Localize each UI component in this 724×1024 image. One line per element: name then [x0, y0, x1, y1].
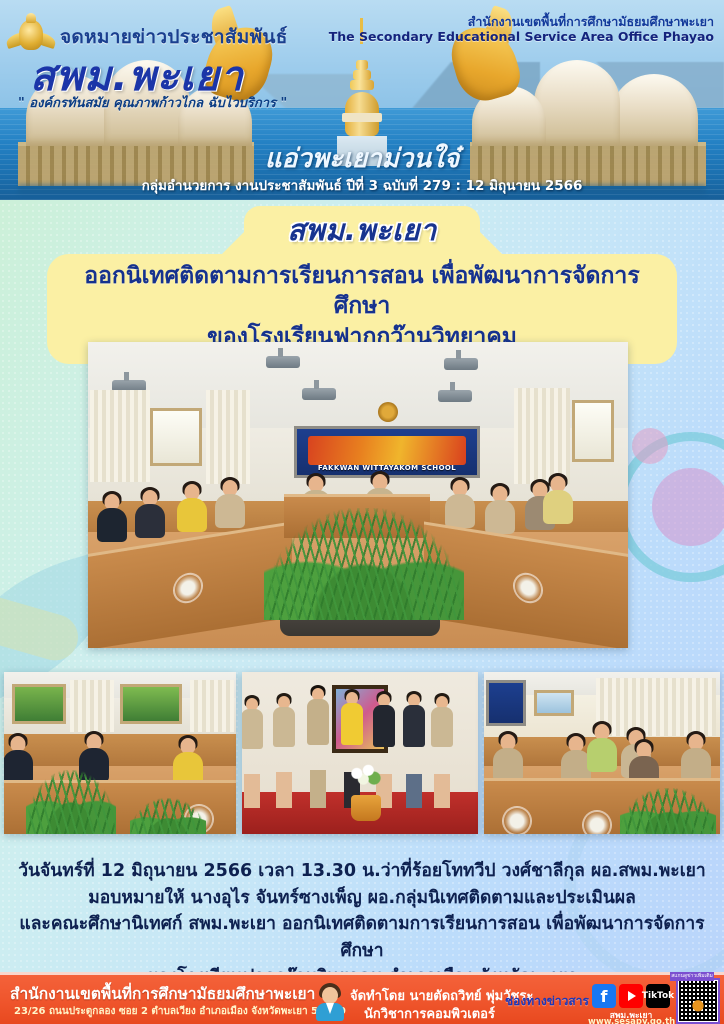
newsletter-poster: จดหมายข่าวประชาสัมพันธ์ สพม.พะเยา " องค์…	[0, 0, 724, 1024]
facebook-icon[interactable]: f	[592, 984, 616, 1008]
qr-code-label: สแกนดูข่าวเพิ่มเติม	[670, 972, 714, 981]
plant-decoration	[264, 508, 464, 620]
group-photo-scene	[242, 672, 478, 834]
tiktok-icon[interactable]: TikTok	[646, 984, 670, 1008]
caption-line-2: มอบหมายให้ นางอุไร จันทร์ซางเพ็ญ ผอ.กลุ่…	[16, 885, 708, 912]
social-links: f TikTok	[592, 984, 670, 1008]
tourism-slogan: แอ่วพะเยาม่วนใจ๋	[0, 138, 724, 179]
flower-arrangement	[346, 763, 382, 789]
header-banner: จดหมายข่าวประชาสัมพันธ์ สพม.พะเยา " องค์…	[0, 0, 724, 200]
wall-clock-icon	[378, 402, 398, 422]
header-slogan: " องค์กรทันสมัย คุณภาพก้าวไกล ฉับไวบริกา…	[18, 92, 287, 113]
plant-decoration	[130, 798, 206, 834]
footer-address: 23/26 ถนนประตูกลอง ซอย 2 ตำบลเวียง อำเภอ…	[14, 1004, 346, 1019]
title-brand: สพม.พะเยา	[287, 207, 436, 253]
footer-office-name: สำนักงานเขตพื้นที่การศึกษามัธยมศึกษาพะเย…	[10, 981, 315, 1006]
qr-code-image	[679, 981, 717, 1021]
author-avatar-icon	[316, 983, 344, 1021]
meeting-participants-scene	[4, 672, 236, 834]
issue-line: กลุ่มอำนวยการ งานประชาสัมพันธ์ ปีที่ 3 ฉ…	[0, 174, 724, 196]
teachers-seated-scene	[484, 672, 720, 834]
title-banner: สพม.พะเยา ออกนิเทศติดตามการเรียนการสอน เ…	[0, 206, 724, 364]
photo-bottom-left	[4, 672, 236, 834]
caption-line-3: และคณะศึกษานิเทศก์ สพม.พะเยา ออกนิเทศติด…	[16, 911, 708, 964]
footer-site-url[interactable]: www.sesapy.go.th	[588, 1017, 674, 1024]
title-banner-top: สพม.พะเยา	[244, 206, 480, 254]
gift-basket	[351, 795, 381, 821]
footer-author-title: นักวิชาการคอมพิวเตอร์	[364, 1003, 495, 1024]
footer-bar: สำนักงานเขตพื้นที่การศึกษามัธยมศึกษาพะเย…	[0, 972, 724, 1024]
photo-bottom-right	[484, 672, 720, 834]
title-line-1: ออกนิเทศติดตามการเรียนการสอน เพื่อพัฒนาก…	[61, 261, 663, 322]
main-photo: FAKKWAN WITTAYAKOM SCHOOL	[88, 342, 628, 648]
footer-channel-label: ช่องทางข่าวสาร :	[505, 992, 598, 1011]
photo-bottom-center	[242, 672, 478, 834]
office-name-english: The Secondary Educational Service Area O…	[329, 29, 714, 44]
caption-line-1: วันจันทร์ที่ 12 มิถุนายน 2566 เวลา 13.30…	[16, 858, 708, 885]
meeting-room-scene: FAKKWAN WITTAYAKOM SCHOOL	[88, 342, 628, 648]
plant-decoration	[620, 788, 716, 834]
school-banner: FAKKWAN WITTAYAKOM SCHOOL	[294, 426, 480, 478]
plant-decoration	[26, 770, 116, 834]
qr-code[interactable]: สแกนดูข่าวเพิ่มเติม	[676, 978, 720, 1024]
youtube-icon[interactable]	[619, 984, 643, 1008]
school-banner-text: FAKKWAN WITTAYAKOM SCHOOL	[297, 464, 477, 472]
